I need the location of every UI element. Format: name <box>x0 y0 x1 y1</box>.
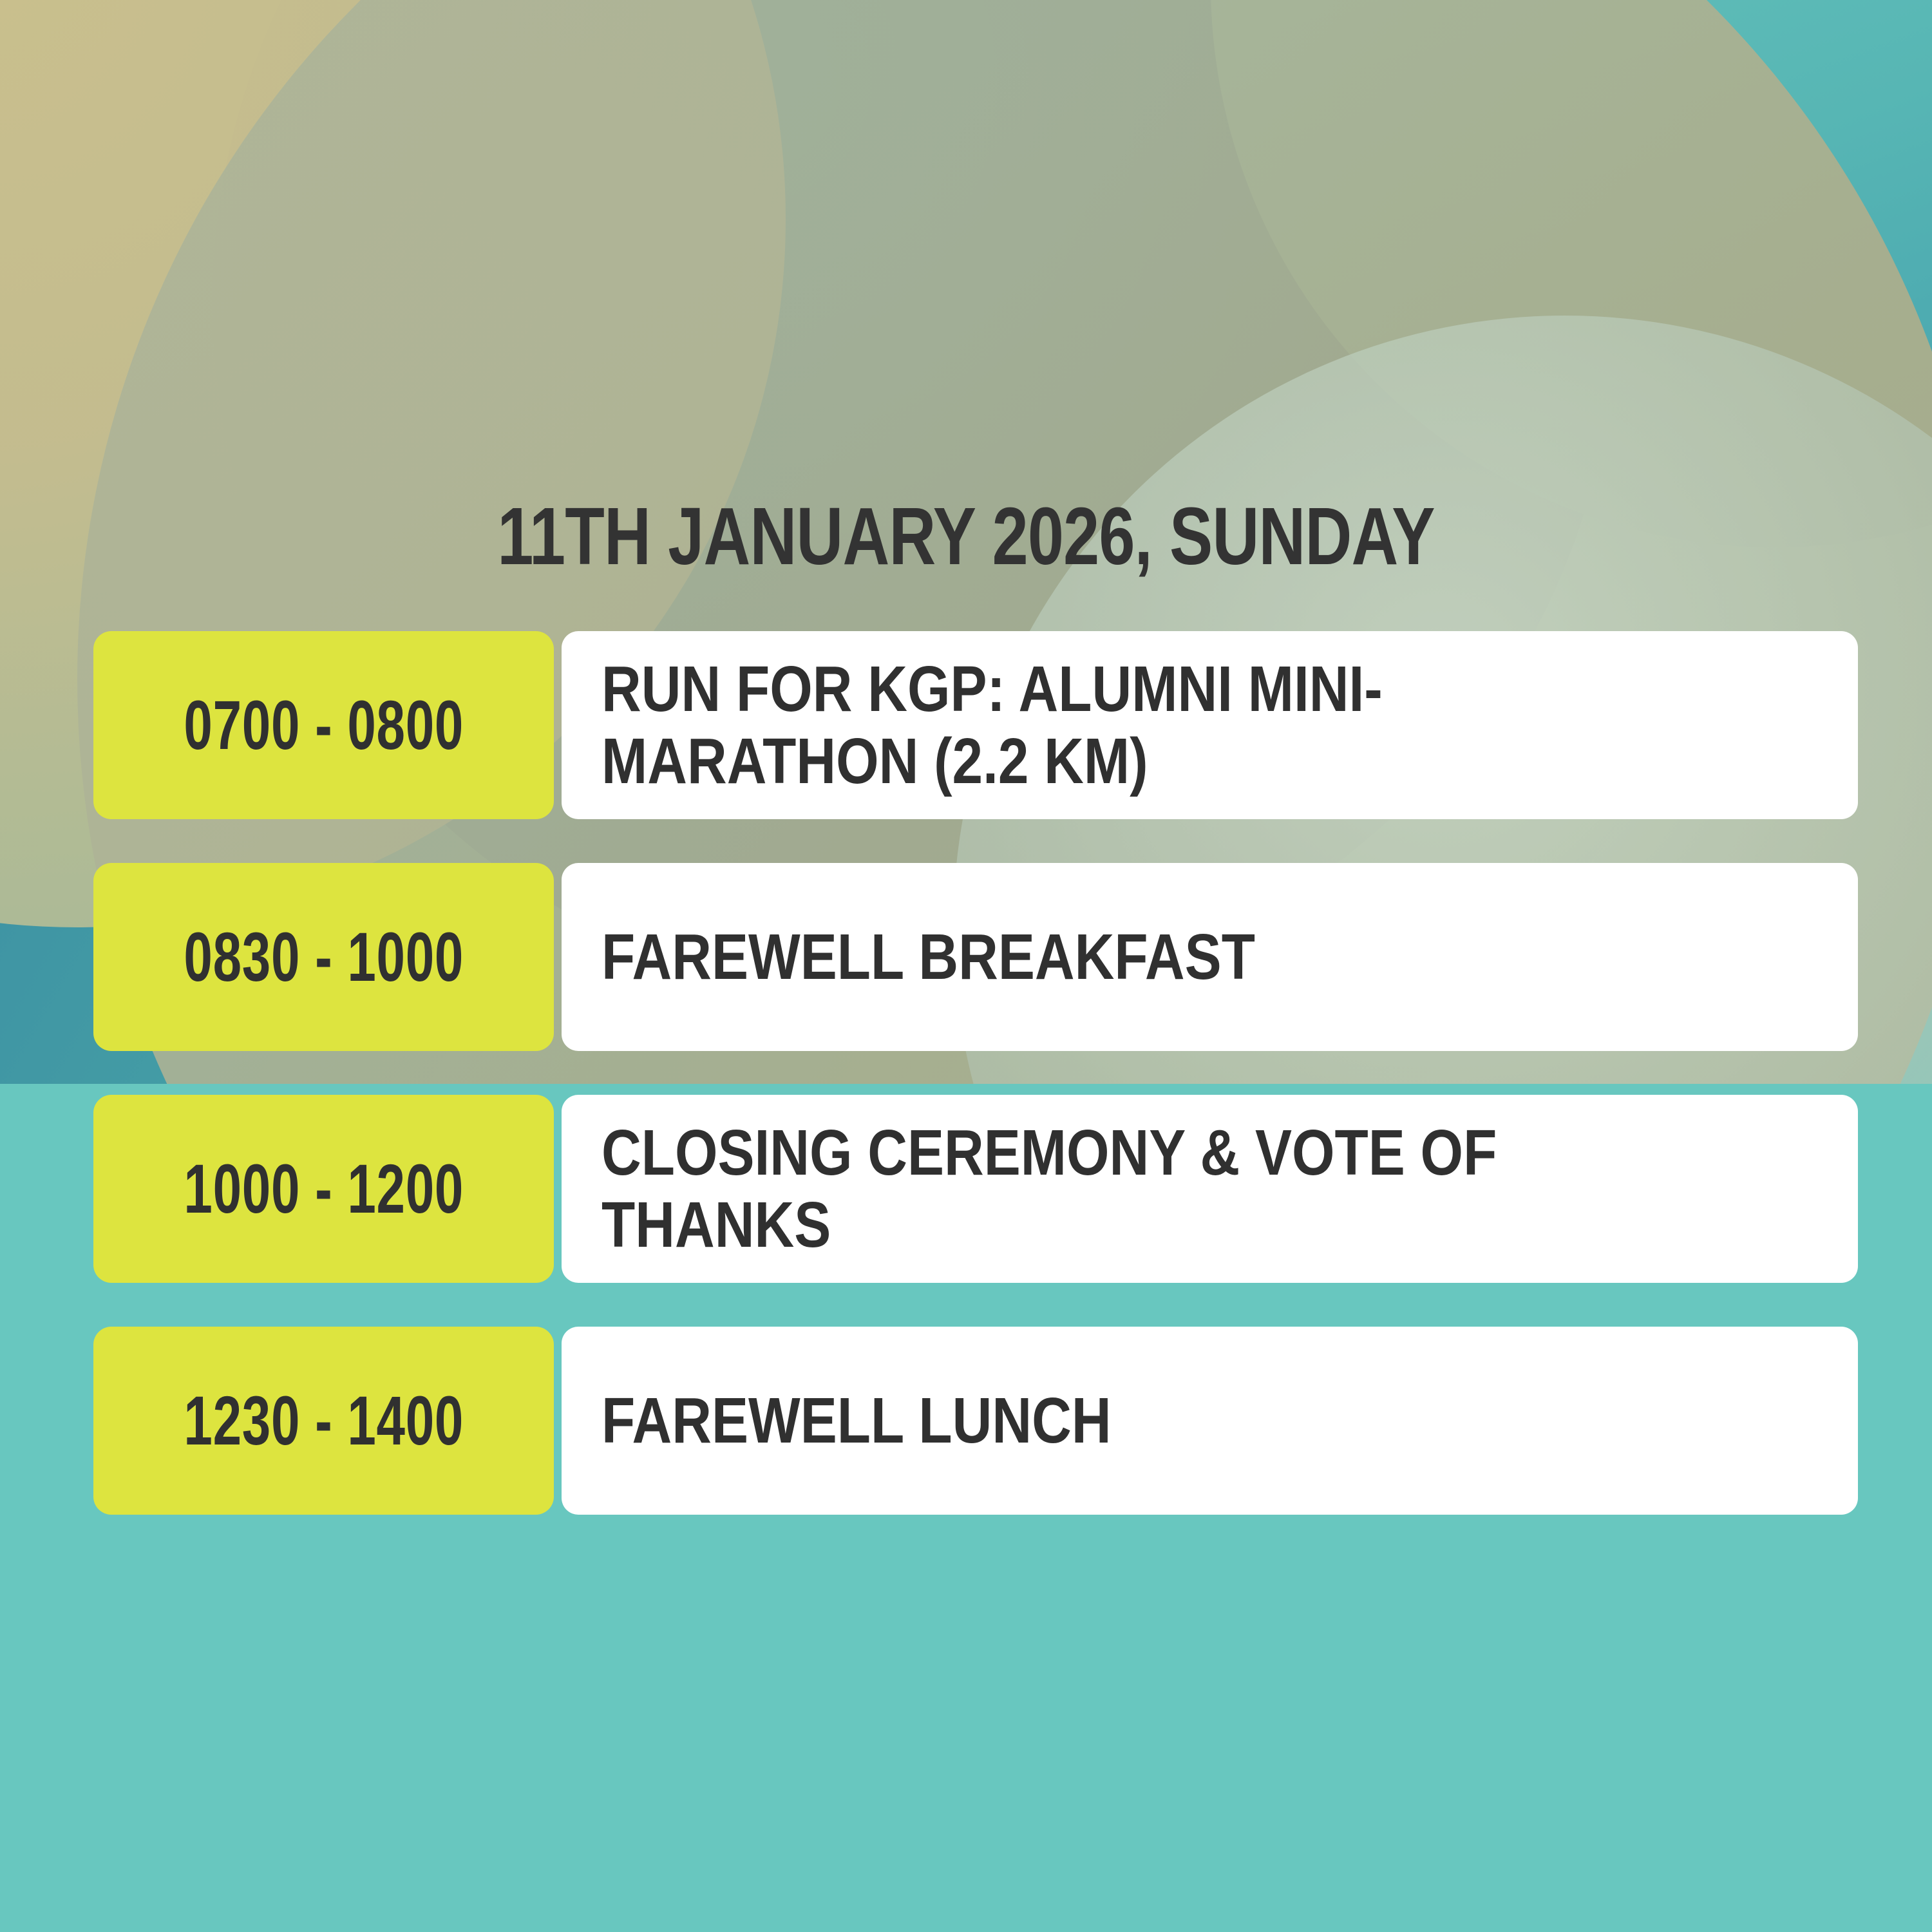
event-card: CLOSING CEREMONY & VOTE OF THANKS <box>562 1095 1858 1283</box>
schedule-list: 0700 - 0800 RUN FOR KGP: ALUMNI MINI-MAR… <box>93 631 1858 1558</box>
event-card-label: CLOSING CEREMONY & VOTE OF THANKS <box>601 1117 1676 1261</box>
time-chip-label: 0830 - 1000 <box>184 922 464 992</box>
event-card-label: FAREWELL LUNCH <box>601 1385 1676 1457</box>
event-card: FAREWELL LUNCH <box>562 1327 1858 1515</box>
time-chip-label: 0700 - 0800 <box>184 690 464 760</box>
time-chip: 1000 - 1200 <box>93 1095 554 1283</box>
table-row: 1000 - 1200 CLOSING CEREMONY & VOTE OF T… <box>93 1095 1858 1283</box>
time-chip: 0830 - 1000 <box>93 863 554 1051</box>
event-card: RUN FOR KGP: ALUMNI MINI-MARATHON (2.2 K… <box>562 631 1858 819</box>
schedule-poster: 11TH JANUARY 2026, SUNDAY 0700 - 0800 RU… <box>0 0 1932 1932</box>
table-row: 1230 - 1400 FAREWELL LUNCH <box>93 1327 1858 1515</box>
event-card: FAREWELL BREAKFAST <box>562 863 1858 1051</box>
event-card-label: FAREWELL BREAKFAST <box>601 921 1676 993</box>
table-row: 0700 - 0800 RUN FOR KGP: ALUMNI MINI-MAR… <box>93 631 1858 819</box>
time-chip-label: 1000 - 1200 <box>184 1154 464 1224</box>
time-chip-label: 1230 - 1400 <box>184 1386 464 1455</box>
page-title: 11TH JANUARY 2026, SUNDAY <box>193 496 1739 577</box>
table-row: 0830 - 1000 FAREWELL BREAKFAST <box>93 863 1858 1051</box>
time-chip: 0700 - 0800 <box>93 631 554 819</box>
poster-content: 11TH JANUARY 2026, SUNDAY 0700 - 0800 RU… <box>0 0 1932 1932</box>
event-card-label: RUN FOR KGP: ALUMNI MINI-MARATHON (2.2 K… <box>601 653 1676 797</box>
time-chip: 1230 - 1400 <box>93 1327 554 1515</box>
